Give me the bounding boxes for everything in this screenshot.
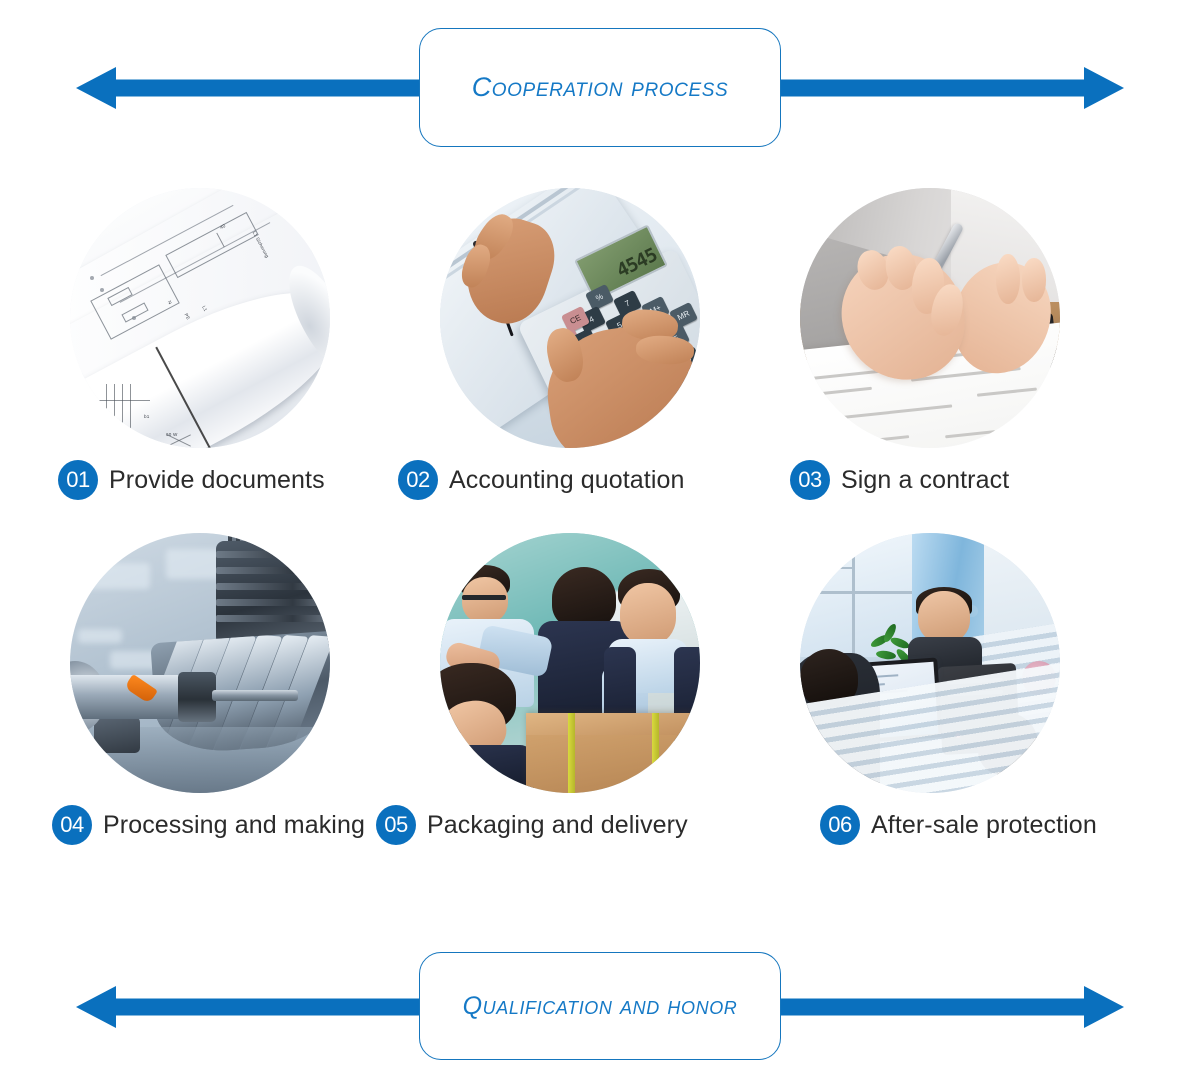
step-badge-04: 04	[52, 805, 92, 845]
step-card-04: 04 Processing and making	[0, 533, 400, 845]
photo-calculator-hands: 4545 % 7 M+ MR 4 5 = CE ON 1 2 % +	[440, 188, 700, 448]
step-photo-wrap-02: 4545 % 7 M+ MR 4 5 = CE ON 1 2 % +	[440, 188, 700, 448]
step-badge-03: 03	[790, 460, 830, 500]
arrow-left-icon	[76, 986, 116, 1028]
steps-row-1: 40 L1 Sicherung N PE L1	[0, 188, 1200, 533]
banner-box-bottom: Qualification and honor	[419, 952, 781, 1060]
step-label-03: Sign a contract	[841, 466, 1009, 495]
step-caption-04: 04 Processing and making	[0, 805, 400, 845]
photo-signing-contract	[800, 188, 1060, 448]
step-photo-wrap-05	[440, 533, 700, 793]
step-label-02: Accounting quotation	[449, 466, 685, 495]
photo-packaging-workers	[440, 533, 700, 793]
qualification-honor-banner: Qualification and honor	[0, 952, 1200, 1062]
step-badge-05: 05	[376, 805, 416, 845]
step-card-06: 06 After-sale protection	[730, 533, 1130, 845]
step-card-03: 03 Sign a contract	[730, 188, 1130, 500]
step-photo-wrap-04	[70, 533, 330, 793]
arrow-right-icon	[1084, 67, 1124, 109]
step-caption-02: 02 Accounting quotation	[370, 460, 770, 500]
step-caption-01: 01 Provide documents	[0, 460, 400, 500]
step-badge-01: 01	[58, 460, 98, 500]
step-photo-wrap-01: 40 L1 Sicherung N PE L1	[70, 188, 330, 448]
step-card-05: 05 Packaging and delivery	[370, 533, 770, 845]
step-photo-wrap-03	[800, 188, 1060, 448]
process-steps-grid: 40 L1 Sicherung N PE L1	[0, 188, 1200, 878]
step-caption-03: 03 Sign a contract	[730, 460, 1130, 500]
step-label-04: Processing and making	[103, 811, 365, 840]
step-card-02: 4545 % 7 M+ MR 4 5 = CE ON 1 2 % +	[370, 188, 770, 500]
step-caption-06: 06 After-sale protection	[730, 805, 1130, 845]
step-label-01: Provide documents	[109, 466, 325, 495]
step-photo-wrap-06	[800, 533, 1060, 793]
step-card-01: 40 L1 Sicherung N PE L1	[0, 188, 400, 500]
section-title-qualification-honor: Qualification and honor	[463, 992, 738, 1021]
arrow-right-icon	[1084, 986, 1124, 1028]
step-label-06: After-sale protection	[871, 811, 1097, 840]
step-badge-02: 02	[398, 460, 438, 500]
section-title-cooperation-process: Cooperation process	[472, 72, 729, 103]
step-badge-06: 06	[820, 805, 860, 845]
banner-box-top: Cooperation process	[419, 28, 781, 147]
photo-rolled-blueprints: 40 L1 Sicherung N PE L1	[70, 188, 330, 448]
step-label-05: Packaging and delivery	[427, 811, 688, 840]
cooperation-process-banner: Cooperation process	[0, 28, 1200, 148]
photo-cnc-machining	[70, 533, 330, 793]
photo-office-staff	[800, 533, 1060, 793]
steps-row-2: 04 Processing and making	[0, 533, 1200, 878]
step-caption-05: 05 Packaging and delivery	[370, 805, 770, 845]
arrow-left-icon	[76, 67, 116, 109]
